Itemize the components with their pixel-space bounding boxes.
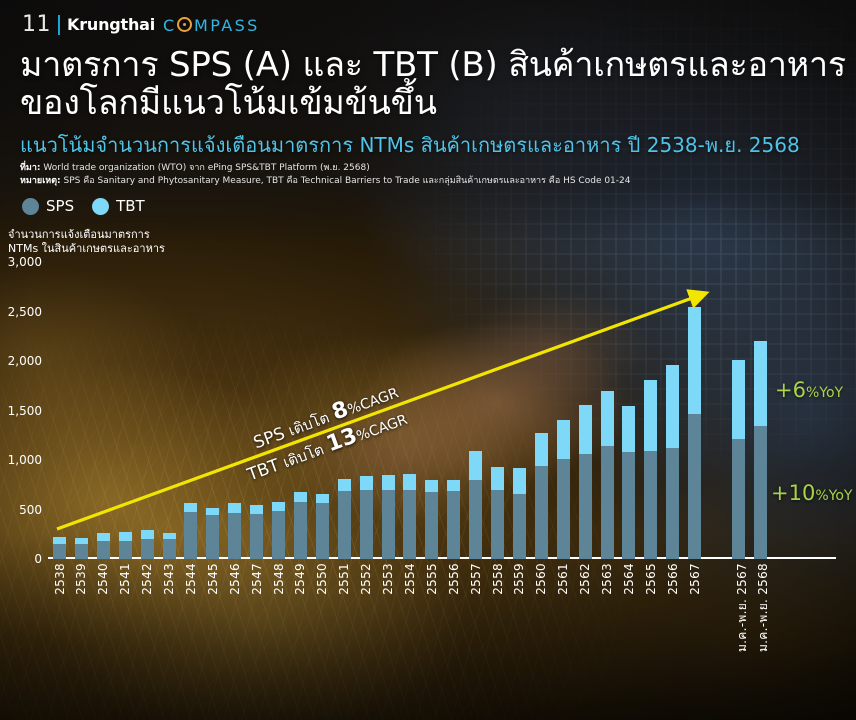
note-line: หมายเหตุ: SPS คือ Sanitary and Phytosani…: [20, 175, 850, 188]
brand-logo: 11 Krungthai CMPASS: [22, 14, 260, 36]
chart-bar-segment-tbt: [316, 494, 329, 502]
compass-mpass: MPASS: [194, 16, 260, 35]
slide-title: มาตรการ SPS (A) และ TBT (B) สินค้าเกษตรแ…: [20, 46, 850, 122]
annotation-tbt-yoy: +6%YoY: [775, 378, 843, 402]
chart-bar-segment-tbt: [403, 474, 416, 489]
chart-bar[interactable]: [250, 505, 263, 559]
x-axis-label: 2565: [644, 563, 658, 595]
chart-bar-segment-tbt: [601, 391, 614, 446]
x-axis-label: 2545: [206, 563, 220, 595]
chart-bar[interactable]: [469, 451, 482, 559]
chart-bar[interactable]: [360, 476, 373, 559]
chart-bar-segment-tbt: [447, 480, 460, 491]
x-axis-label: ม.ค.-พ.ย. 2567: [732, 563, 751, 652]
y-axis-tick: 1,000: [0, 453, 42, 467]
chart-bar-segment-tbt: [666, 365, 679, 448]
chart-bar[interactable]: [338, 479, 351, 559]
legend-item-sps[interactable]: SPS: [22, 198, 74, 215]
x-axis-label: 2548: [272, 563, 286, 595]
chart-bar[interactable]: [228, 503, 241, 559]
chart-bar[interactable]: [557, 420, 570, 559]
chart-bar-segment-sps: [184, 512, 197, 559]
chart-bar[interactable]: [403, 474, 416, 559]
chart-bar[interactable]: [53, 537, 66, 559]
chart-bar-segment-tbt: [469, 451, 482, 480]
chart-bar[interactable]: [622, 406, 635, 559]
chart-bar[interactable]: [382, 475, 395, 559]
chart-bar[interactable]: [754, 341, 767, 559]
chart-bar[interactable]: [119, 532, 132, 559]
x-axis-label: 2557: [469, 563, 483, 595]
chart-bar-segment-tbt: [250, 505, 263, 515]
x-axis-label: 2561: [556, 563, 570, 595]
chart-bar[interactable]: [425, 480, 438, 559]
chart-bar-segment-sps: [141, 539, 154, 559]
legend-label-sps: SPS: [46, 199, 74, 214]
compass-c: C: [163, 16, 177, 35]
chart-bar-segment-tbt: [184, 503, 197, 512]
chart-bar[interactable]: [644, 380, 657, 559]
chart-bar[interactable]: [206, 508, 219, 559]
chart-bar-segment-sps: [360, 490, 373, 559]
chart-bar-segment-tbt: [732, 360, 745, 439]
chart-bar-segment-sps: [338, 491, 351, 559]
chart-bar-segment-tbt: [382, 475, 395, 490]
chart-bar-segment-sps: [425, 492, 438, 559]
legend-swatch-sps: [22, 198, 39, 215]
chart-bar-segment-sps: [75, 544, 88, 559]
chart-bar-segment-sps: [316, 503, 329, 559]
legend-label-tbt: TBT: [116, 199, 145, 214]
chart-bar-segment-sps: [754, 426, 767, 559]
chart-bar[interactable]: [666, 365, 679, 559]
chart-bar[interactable]: [75, 538, 88, 559]
y-axis-title: จำนวนการแจ้งเตือนมาตรการ NTMs ในสินค้าเก…: [8, 228, 183, 256]
chart-bar[interactable]: [535, 433, 548, 559]
x-axis-label: 2559: [512, 563, 526, 595]
source-value: World trade organization (WTO) จาก ePing…: [43, 163, 369, 173]
chart-bar[interactable]: [316, 494, 329, 559]
chart-bar-segment-tbt: [535, 433, 548, 466]
chart-bar[interactable]: [732, 360, 745, 559]
x-axis-label: 2539: [74, 563, 88, 595]
x-axis-label: 2552: [359, 563, 373, 595]
x-axis-label: 2541: [118, 563, 132, 595]
x-axis-label: 2556: [447, 563, 461, 595]
x-axis-label: 2544: [184, 563, 198, 595]
chart-bar-segment-tbt: [622, 406, 635, 453]
chart-bar-segment-tbt: [119, 532, 132, 541]
chart-bar-segment-sps: [557, 459, 570, 559]
chart-bar-segment-tbt: [294, 492, 307, 502]
x-axis-label: 2554: [403, 563, 417, 595]
chart-bar-segment-tbt: [272, 502, 285, 511]
x-axis-label: ม.ค.-พ.ย. 2568: [753, 563, 772, 652]
chart-bar[interactable]: [688, 307, 701, 559]
chart-bar[interactable]: [184, 503, 197, 559]
chart-bar-segment-tbt: [491, 467, 504, 490]
annotation-sps-yoy: +10%YoY: [771, 481, 852, 505]
chart-bar[interactable]: [97, 533, 110, 559]
chart-bar-segment-sps: [382, 490, 395, 559]
chart-bar[interactable]: [447, 480, 460, 559]
chart-bar-segment-tbt: [206, 508, 219, 516]
chart-bar-segment-sps: [513, 494, 526, 559]
x-axis-label: 2551: [337, 563, 351, 595]
logo-divider: [58, 15, 60, 35]
x-axis-label: 2562: [578, 563, 592, 595]
x-axis-label: 2550: [315, 563, 329, 595]
legend-item-tbt[interactable]: TBT: [92, 198, 145, 215]
note-label: หมายเหตุ:: [20, 176, 61, 186]
chart-bar-segment-sps: [272, 511, 285, 559]
chart-bar-segment-sps: [622, 452, 635, 559]
x-axis-label: 2542: [140, 563, 154, 595]
chart-bar-segment-tbt: [754, 341, 767, 426]
chart-bar[interactable]: [513, 468, 526, 559]
x-axis-label: 2543: [162, 563, 176, 595]
compass-o-icon: [177, 17, 192, 32]
brand-krungthai: Krungthai: [67, 17, 155, 33]
x-axis-label: 2558: [491, 563, 505, 595]
x-axis-label: 2555: [425, 563, 439, 595]
chart-bar-segment-tbt: [425, 480, 438, 492]
chart-bar-segment-sps: [469, 480, 482, 559]
brand-compass: CMPASS: [163, 16, 260, 34]
legend-swatch-tbt: [92, 198, 109, 215]
chart-bar-segment-tbt: [644, 380, 657, 451]
chart-bar-segment-tbt: [338, 479, 351, 491]
chart-bar-segment-sps: [97, 541, 110, 559]
chart-bar[interactable]: [294, 492, 307, 559]
y-axis-tick: 2,500: [0, 305, 42, 319]
chart-bar-segment-tbt: [141, 530, 154, 539]
chart-bar-segment-sps: [535, 466, 548, 559]
chart-bar-segment-tbt: [228, 503, 241, 513]
chart-bar-segment-sps: [491, 490, 504, 559]
chart-bar-segment-sps: [119, 541, 132, 559]
chart-bar-segment-sps: [666, 448, 679, 559]
x-axis-label: 2560: [534, 563, 548, 595]
chart-bar-segment-tbt: [688, 307, 701, 415]
y-axis-tick: 500: [0, 503, 42, 517]
x-axis-label: 2563: [600, 563, 614, 595]
slide-subtitle: แนวโน้มจำนวนการแจ้งเตือนมาตรการ NTMs สิน…: [20, 133, 850, 157]
chart-bar-segment-sps: [250, 514, 263, 559]
x-axis-label: 2566: [666, 563, 680, 595]
chart-bar-segment-tbt: [360, 476, 373, 490]
x-axis-label: 2538: [53, 563, 67, 595]
x-axis-label: 2564: [622, 563, 636, 595]
x-axis-label: 2547: [250, 563, 264, 595]
chart-bar-segment-sps: [447, 491, 460, 559]
chart-legend: SPS TBT: [22, 198, 145, 215]
chart-bar[interactable]: [141, 530, 154, 559]
chart-bar[interactable]: [163, 533, 176, 559]
chart-bar-segment-tbt: [557, 420, 570, 459]
note-value: SPS คือ Sanitary and Phytosanitary Measu…: [64, 176, 631, 186]
chart-bar[interactable]: [272, 502, 285, 559]
chart-bar-segment-sps: [732, 439, 745, 559]
y-axis-tick: 2,000: [0, 354, 42, 368]
chart-bar-segment-sps: [601, 446, 614, 559]
x-axis-label: 2553: [381, 563, 395, 595]
chart-bar-segment-sps: [163, 539, 176, 559]
chart-plot-area: 05001,0001,5002,0002,5003,000: [48, 262, 836, 559]
chart-bar[interactable]: [601, 391, 614, 559]
slide-root: 11 Krungthai CMPASS มาตรการ SPS (A) และ …: [0, 0, 856, 720]
notes-block: ที่มา: World trade organization (WTO) จา…: [20, 162, 850, 188]
chart-bar-segment-sps: [579, 454, 592, 559]
chart-bar-segment-sps: [403, 490, 416, 559]
annotation-tbt-yoy-value: +6: [775, 378, 806, 402]
x-axis-label: 2567: [688, 563, 702, 595]
chart-bar-segment-tbt: [53, 537, 66, 544]
y-axis-tick: 3,000: [0, 255, 42, 269]
chart-bar-segment-sps: [644, 451, 657, 559]
page-number: 11: [22, 14, 51, 36]
chart-bar[interactable]: [491, 467, 504, 559]
annotation-sps-yoy-value: +10: [771, 481, 815, 505]
x-axis-label: 2549: [293, 563, 307, 595]
y-axis-tick: 1,500: [0, 404, 42, 418]
chart-bar-segment-sps: [294, 502, 307, 559]
chart-bar-segment-tbt: [513, 468, 526, 494]
x-axis-label: 2540: [96, 563, 110, 595]
chart-bar-segment-tbt: [579, 405, 592, 455]
chart-bar[interactable]: [579, 405, 592, 559]
chart-bar-segment-sps: [53, 544, 66, 559]
chart-bar-segment-sps: [688, 414, 701, 559]
y-axis-tick: 0: [0, 552, 42, 566]
x-axis-label: 2546: [228, 563, 242, 595]
source-line: ที่มา: World trade organization (WTO) จา…: [20, 162, 850, 175]
chart-bar-segment-tbt: [97, 533, 110, 541]
annotation-tbt-yoy-unit: %YoY: [806, 385, 843, 401]
chart-bar-segment-sps: [206, 515, 219, 559]
source-label: ที่มา:: [20, 163, 41, 173]
chart-bar-segment-sps: [228, 513, 241, 559]
annotation-sps-yoy-unit: %YoY: [815, 488, 852, 504]
